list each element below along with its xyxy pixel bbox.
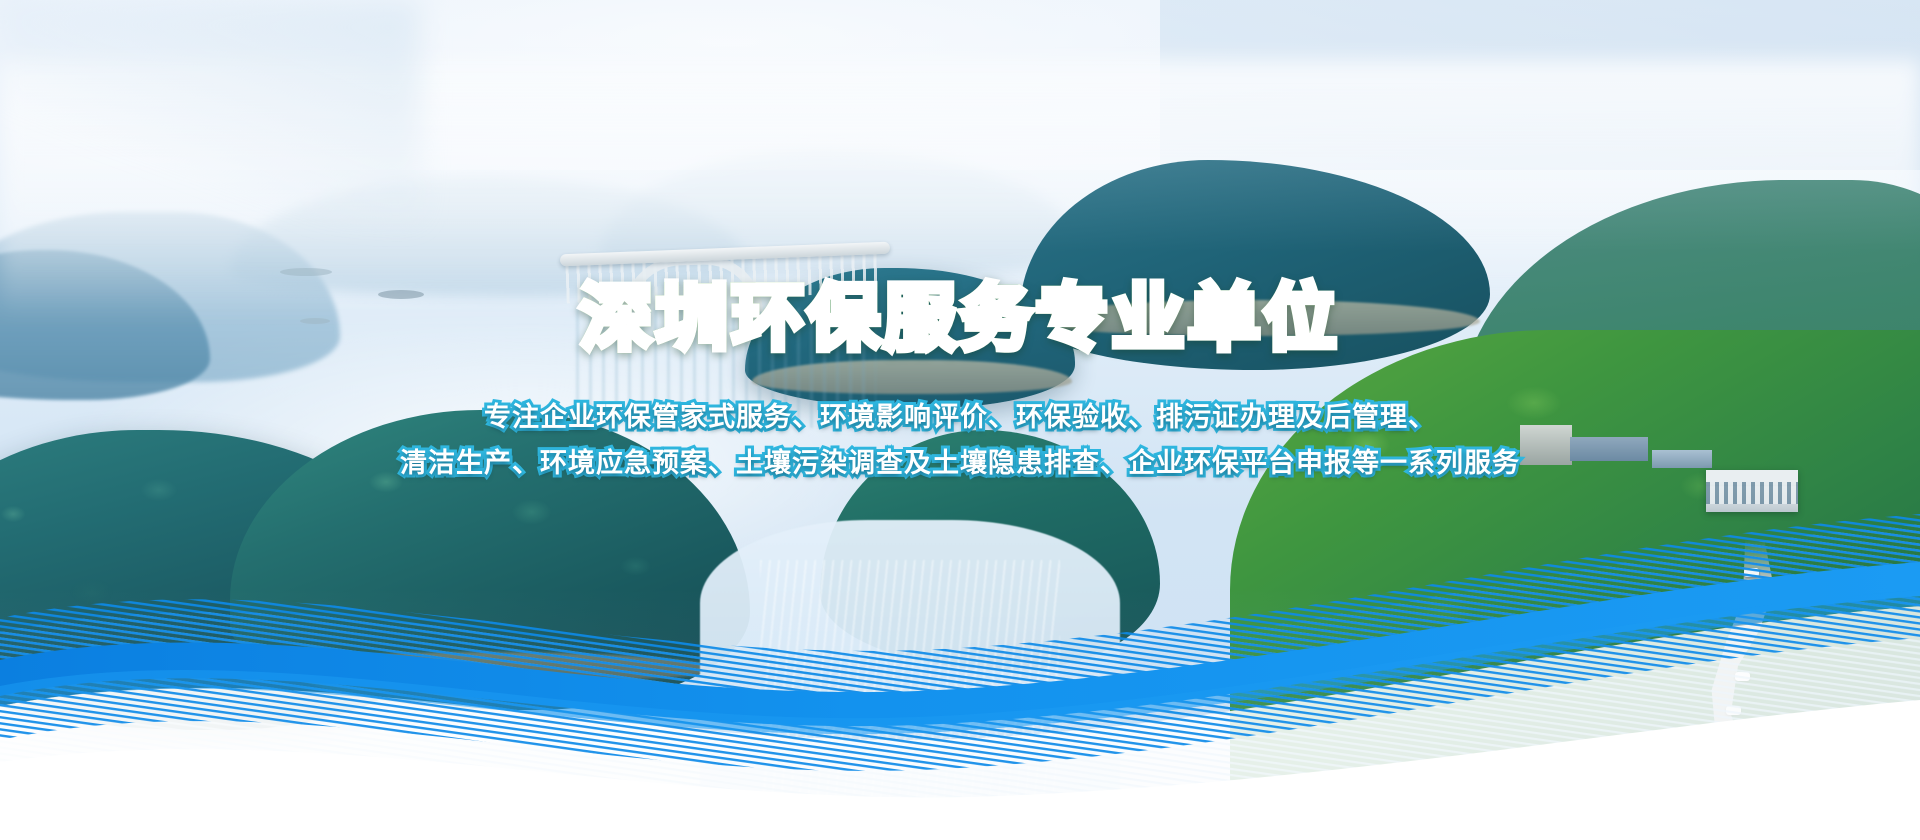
water-object-2 — [378, 290, 424, 299]
right-island-shoreline — [1030, 300, 1480, 336]
arch-bridge-icon — [560, 248, 890, 318]
hillside-building-b — [1570, 437, 1648, 461]
water-object-1 — [280, 268, 332, 276]
right-mountain-haze — [0, 0, 420, 220]
hillside-building-main — [1706, 470, 1798, 512]
hero-banner: 深圳环保服务专业单位 专注企业环保管家式服务、环境影响评价、环保验收、排污证办理… — [0, 0, 1920, 840]
water-object-3 — [300, 318, 330, 324]
hillside-building-c — [1652, 450, 1712, 468]
hillside-building-a — [1520, 425, 1572, 465]
wave-decoration — [0, 510, 1920, 840]
bridge-reflection — [576, 308, 876, 428]
